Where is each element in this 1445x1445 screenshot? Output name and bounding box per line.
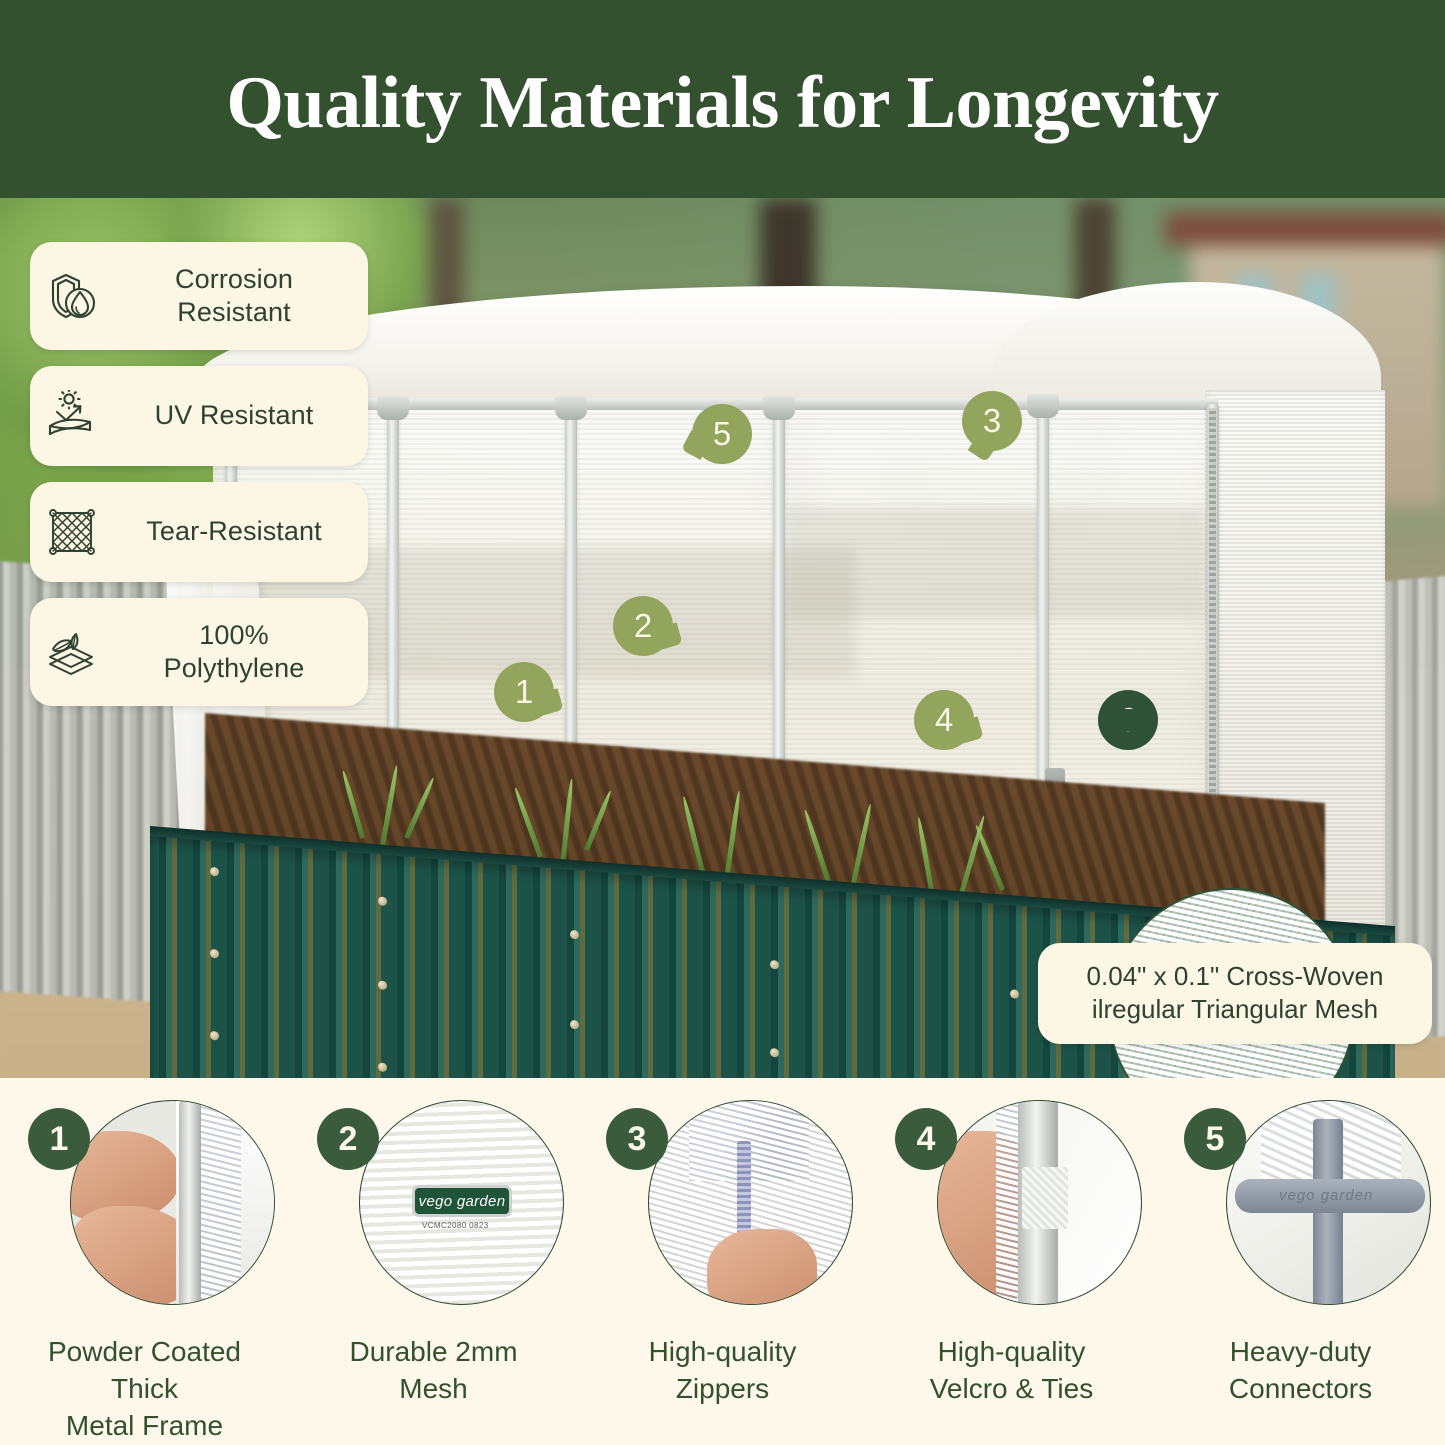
thumbnail-caption-3: High-quality Zippers — [590, 1333, 855, 1407]
photo-pin-6[interactable]: 6 — [1098, 690, 1158, 750]
hand-shape — [707, 1229, 817, 1305]
bed-screw — [378, 980, 387, 990]
bed-screw — [1010, 989, 1019, 999]
brand-name: vego garden — [419, 1193, 506, 1210]
thumbnail-wrapper: 3 — [620, 1100, 825, 1305]
pin-number: 2 — [634, 607, 652, 645]
bed-screw — [210, 867, 219, 877]
bed-screw — [570, 1020, 579, 1030]
thumbnail-badge-2: 2 — [317, 1108, 379, 1170]
caption-line2: Zippers — [590, 1370, 855, 1407]
caption-line1: Heavy-duty — [1168, 1333, 1433, 1370]
badge-label-line1: UV Resistant — [114, 399, 354, 432]
thumbnail-item-5[interactable]: vego garden 5 Heavy-duty Connectors — [1156, 1100, 1445, 1445]
badge-number: 4 — [917, 1120, 936, 1159]
thumbnail-wrapper: 1 — [42, 1100, 247, 1305]
bed-screw — [378, 896, 387, 906]
thumbnail-image-5[interactable]: vego garden — [1226, 1100, 1431, 1305]
mesh-spec-callout: 0.04" x 0.1" Cross-Woven ilregular Trian… — [1038, 943, 1432, 1044]
mesh-spec-line2: ilregular Triangular Mesh — [1052, 993, 1418, 1026]
header-banner: Quality Materials for Longevity — [0, 0, 1445, 198]
thumbnail-badge-1: 1 — [28, 1108, 90, 1170]
badge-number: 3 — [628, 1120, 647, 1159]
thumbnail-wrapper: vego garden 5 — [1198, 1100, 1403, 1305]
caption-line1: High-quality — [879, 1333, 1144, 1370]
caption-line1: Powder Coated Thick — [12, 1333, 277, 1407]
photo-pin-1[interactable]: 1 — [494, 662, 554, 722]
thumbnail-image-2[interactable]: vego garden VCMC2080 0823 — [359, 1100, 564, 1305]
badge-number: 2 — [339, 1120, 358, 1159]
badge-polythylene[interactable]: 100% Polythylene — [30, 598, 368, 706]
badge-label: Corrosion Resistant — [114, 263, 368, 330]
mesh-spec-line1: 0.04" x 0.1" Cross-Woven — [1052, 960, 1418, 993]
thumbnail-caption-1: Powder Coated Thick Metal Frame — [12, 1333, 277, 1445]
thumbnail-caption-4: High-quality Velcro & Ties — [879, 1333, 1144, 1407]
thumbnail-item-4[interactable]: 4 High-quality Velcro & Ties — [867, 1100, 1156, 1445]
mesh-strip — [201, 1101, 241, 1305]
badge-label-line2: Resistant — [114, 296, 354, 329]
frame-connector — [555, 396, 587, 420]
badge-label: 100% Polythylene — [114, 619, 368, 686]
badge-label-line2: Polythylene — [114, 652, 354, 685]
caption-line1: Durable 2mm — [301, 1333, 566, 1370]
badge-number: 1 — [50, 1120, 69, 1159]
photo-pin-5[interactable]: 5 — [692, 404, 752, 464]
page-title: Quality Materials for Longevity — [226, 66, 1218, 140]
badge-label: Tear-Resistant — [114, 515, 368, 548]
leaf-layers-icon — [30, 625, 114, 679]
thumbnail-badge-5: 5 — [1184, 1108, 1246, 1170]
caption-line2: Mesh — [301, 1370, 566, 1407]
photo-pin-3[interactable]: 3 — [962, 391, 1022, 451]
badge-label-line1: 100% — [114, 619, 354, 652]
bed-screw — [210, 1031, 219, 1041]
label-code-text: VCMC2080 0823 — [422, 1221, 489, 1230]
building-roof — [1165, 212, 1445, 246]
badge-corrosion-resistant[interactable]: Corrosion Resistant — [30, 242, 368, 350]
photo-pin-4[interactable]: 4 — [914, 690, 974, 750]
infographic-page: Quality Materials for Longevity — [0, 0, 1445, 1445]
detail-thumbnail-strip: 1 Powder Coated Thick Metal Frame vego g… — [0, 1078, 1445, 1445]
thumbnail-item-2[interactable]: vego garden VCMC2080 0823 2 Durable 2mm … — [289, 1100, 578, 1445]
pin-number: 4 — [935, 701, 953, 739]
thumbnail-item-3[interactable]: 3 High-quality Zippers — [578, 1100, 867, 1445]
thumbnail-image-3[interactable] — [648, 1100, 853, 1305]
caption-line2: Velcro & Ties — [879, 1370, 1144, 1407]
bed-screw — [570, 930, 579, 940]
bed-screw — [770, 960, 779, 970]
shield-droplet-icon — [30, 269, 114, 323]
badge-label-line1: Corrosion — [114, 263, 354, 296]
pin-number: 3 — [983, 402, 1001, 440]
mesh-net-icon — [30, 505, 114, 559]
thumbnail-caption-5: Heavy-duty Connectors — [1168, 1333, 1433, 1407]
badge-uv-resistant[interactable]: UV Resistant — [30, 366, 368, 466]
frame-connector — [377, 396, 409, 420]
badge-label-line1: Tear-Resistant — [114, 515, 354, 548]
brand-label-tag: vego garden — [412, 1185, 512, 1217]
thumbnail-caption-2: Durable 2mm Mesh — [301, 1333, 566, 1407]
thumbnail-image-1[interactable] — [70, 1100, 275, 1305]
frame-pole — [179, 1101, 201, 1305]
velcro-strap — [1022, 1167, 1068, 1229]
caption-line1: High-quality — [590, 1333, 855, 1370]
thumbnail-badge-4: 4 — [895, 1108, 957, 1170]
bed-screw — [210, 949, 219, 959]
thumbnail-wrapper: vego garden VCMC2080 0823 2 — [331, 1100, 536, 1305]
thumbnail-item-1[interactable]: 1 Powder Coated Thick Metal Frame — [0, 1100, 289, 1445]
bed-screw — [770, 1048, 779, 1058]
caption-line2: Connectors — [1168, 1370, 1433, 1407]
pin-number: 1 — [515, 673, 533, 711]
badge-number: 5 — [1206, 1120, 1225, 1159]
thumbnail-wrapper: 4 — [909, 1100, 1114, 1305]
fabric-shadow — [785, 508, 1205, 618]
thumbnail-badge-3: 3 — [606, 1108, 668, 1170]
thumbnail-image-4[interactable] — [937, 1100, 1142, 1305]
photo-pin-2[interactable]: 2 — [613, 596, 673, 656]
caption-line2: Metal Frame — [12, 1407, 277, 1444]
frame-connector — [763, 396, 795, 420]
thumbnail-row: 1 Powder Coated Thick Metal Frame vego g… — [0, 1100, 1445, 1445]
badge-tear-resistant[interactable]: Tear-Resistant — [30, 482, 368, 582]
sun-fabric-icon — [30, 390, 114, 442]
pin-number: 6 — [1119, 701, 1137, 739]
frame-connector — [1027, 394, 1059, 418]
bed-screw — [378, 1062, 387, 1072]
badge-label: UV Resistant — [114, 399, 368, 432]
pin-number: 5 — [713, 415, 731, 453]
connector-brand-text: vego garden — [1279, 1187, 1373, 1204]
